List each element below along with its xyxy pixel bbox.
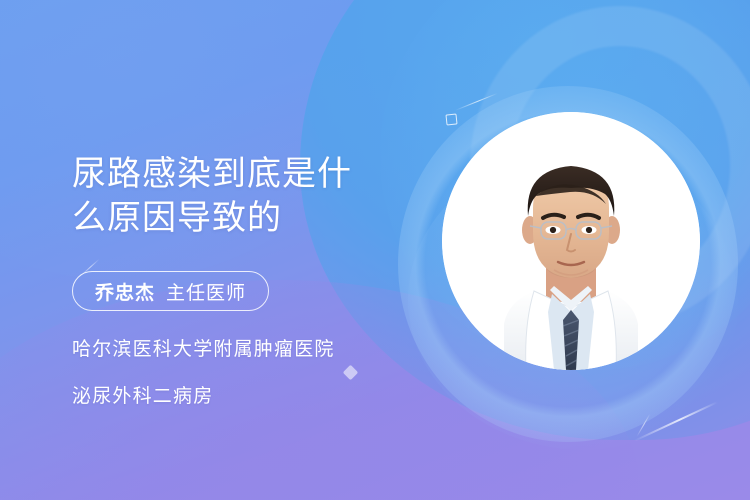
light-streak-icon-top bbox=[455, 93, 498, 111]
doctor-badge: 乔忠杰 主任医师 bbox=[72, 271, 269, 311]
doctor-title: 主任医师 bbox=[166, 278, 246, 305]
title-line-2: 么原因导致的 bbox=[72, 196, 402, 240]
doctor-name: 乔忠杰 bbox=[95, 278, 155, 305]
doctor-portrait-circle bbox=[442, 112, 700, 370]
hospital-name: 哈尔滨医科大学附属肿瘤医院 bbox=[72, 334, 335, 361]
page-title: 尿路感染到底是什 么原因导致的 bbox=[72, 152, 402, 240]
doctor-portrait-image bbox=[442, 112, 700, 370]
doctor-banner: 尿路感染到底是什 么原因导致的 乔忠杰 主任医师 哈尔滨医科大学附属肿瘤医院 泌… bbox=[0, 0, 750, 500]
title-line-1: 尿路感染到底是什 bbox=[72, 152, 402, 196]
department-name: 泌尿外科二病房 bbox=[72, 381, 213, 408]
text-content: 尿路感染到底是什 么原因导致的 乔忠杰 主任医师 哈尔滨医科大学附属肿瘤医院 泌… bbox=[72, 0, 452, 500]
